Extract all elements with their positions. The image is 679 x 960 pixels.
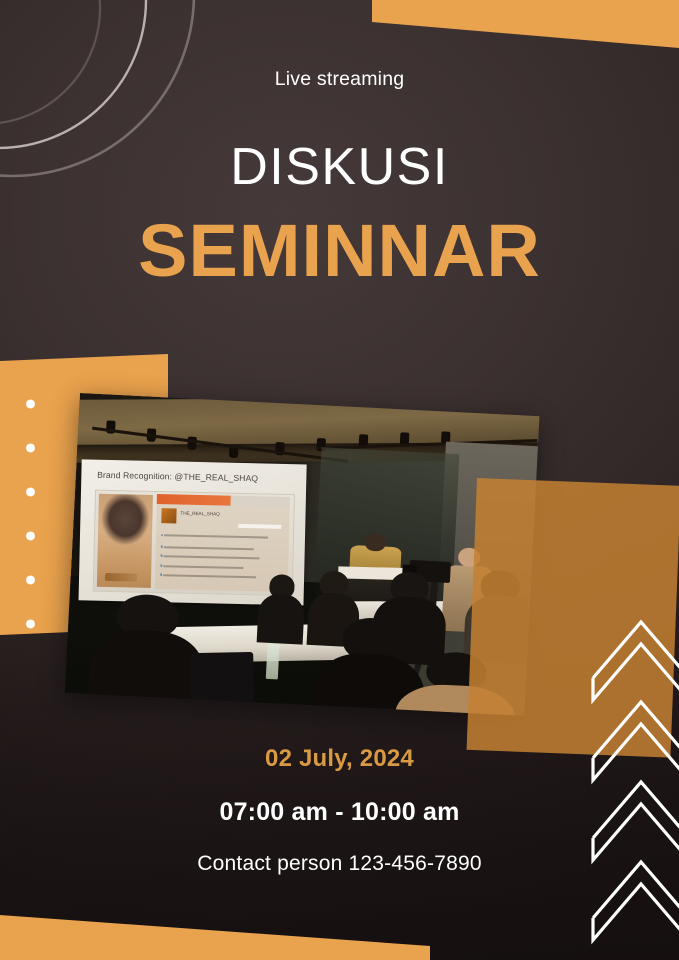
feed-text-line xyxy=(163,565,243,568)
feed-text-line xyxy=(164,535,268,539)
page-title-secondary: SEMINNAR xyxy=(0,212,679,290)
kicker-text: Live streaming xyxy=(0,68,679,91)
grid-dot xyxy=(26,443,35,452)
feed-handle-text: THE_REAL_SHAQ xyxy=(180,510,219,516)
grid-dot xyxy=(26,487,35,496)
top-right-orange-shape xyxy=(0,0,679,120)
feed-bullet xyxy=(160,555,163,558)
orange-overlay-panel xyxy=(467,478,679,758)
page-title-primary: DISKUSI xyxy=(0,140,679,195)
feed-header-bar xyxy=(157,494,290,507)
feed-text-line xyxy=(163,556,259,560)
feed-search-field xyxy=(238,524,281,529)
slide-portrait-image xyxy=(97,493,153,587)
grid-dot xyxy=(26,399,35,408)
feed-text-line xyxy=(164,546,254,550)
slide-title-text: Brand Recognition: @THE_REAL_SHAQ xyxy=(97,470,258,484)
audience-member xyxy=(256,573,305,641)
audience-body xyxy=(256,593,304,644)
event-date: 02 July, 2024 xyxy=(0,745,679,773)
grid-dot xyxy=(26,531,35,540)
feed-avatar xyxy=(161,508,176,524)
grid-dot xyxy=(26,575,35,584)
event-time: 07:00 am - 10:00 am xyxy=(0,798,679,827)
feed-text-line xyxy=(163,575,256,579)
seminar-room-photo: Brand Recognition: @THE_REAL_SHAQ THE_RE… xyxy=(65,393,540,716)
feed-bullet xyxy=(160,564,163,567)
photo-scene: Brand Recognition: @THE_REAL_SHAQ THE_RE… xyxy=(65,393,540,716)
feed-bullet xyxy=(161,534,164,537)
chair-back xyxy=(189,652,254,707)
feed-bullet xyxy=(160,545,163,548)
poster-canvas: Brand Recognition: @THE_REAL_SHAQ THE_RE… xyxy=(0,0,679,960)
event-contact: Contact person 123-456-7890 xyxy=(0,852,679,876)
feed-bullet xyxy=(160,574,163,577)
grid-dot xyxy=(26,619,35,628)
water-bottle xyxy=(266,643,280,680)
